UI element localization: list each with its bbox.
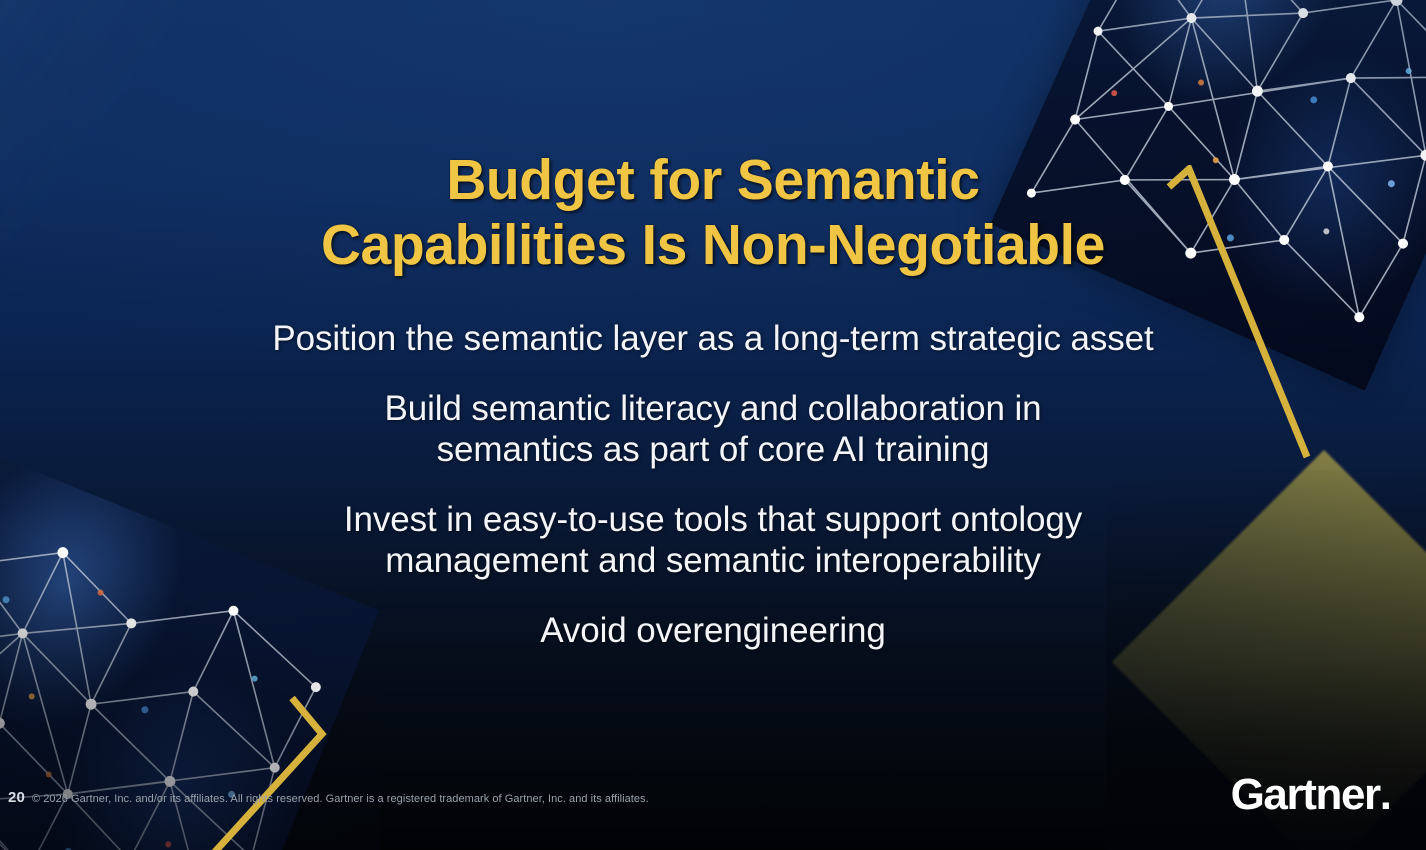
gartner-logo-text: Gartner [1231,770,1380,819]
bullet-item-2-line-1: Build semantic literacy and collaboratio… [133,388,1293,429]
slide-footer: 20 © 2026 Gartner, Inc. and/or its affil… [0,788,1426,850]
presentation-slide: Budget for Semantic Capabilities Is Non-… [0,0,1426,850]
bullet-item-4: Avoid overengineering [133,610,1293,651]
bullet-list: Position the semantic layer as a long-te… [133,318,1293,651]
bullet-item-2-line-2: semantics as part of core AI training [133,429,1293,470]
bullet-item-1: Position the semantic layer as a long-te… [133,318,1293,359]
page-title-line-2: Capabilities Is Non-Negotiable [218,213,1207,278]
bullet-item-3: Invest in easy-to-use tools that support… [133,499,1293,581]
bullet-item-1-line-1: Position the semantic layer as a long-te… [133,318,1293,359]
slide-number: 20 [8,789,25,806]
gartner-logo: Gartner. [1231,772,1392,818]
bullet-item-4-line-1: Avoid overengineering [133,610,1293,651]
bullet-item-3-line-1: Invest in easy-to-use tools that support… [133,499,1293,540]
page-title-line-1: Budget for Semantic [218,148,1207,213]
gartner-logo-mark: . [1380,770,1392,819]
slide-content: Budget for Semantic Capabilities Is Non-… [0,0,1426,850]
copyright-notice: © 2026 Gartner, Inc. and/or its affiliat… [32,793,649,805]
bullet-item-3-line-2: management and semantic interoperability [133,540,1293,581]
page-title: Budget for Semantic Capabilities Is Non-… [203,148,1223,278]
bullet-item-2: Build semantic literacy and collaboratio… [133,388,1293,470]
